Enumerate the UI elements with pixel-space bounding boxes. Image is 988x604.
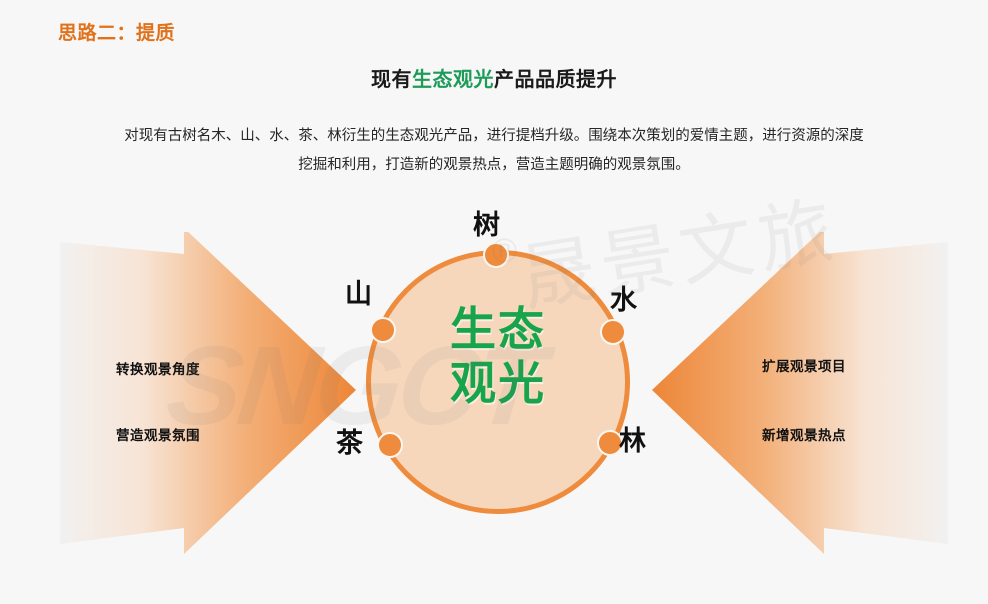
node-dot-shan[interactable]	[370, 317, 396, 343]
right-arrow-label-2: 新增观景热点	[762, 424, 846, 444]
center-label-line-1: 生态	[366, 302, 630, 356]
center-circle-label: 生态 观光	[366, 302, 630, 410]
center-circle: 生态 观光	[366, 250, 630, 514]
left-arrow-label-1: 转换观景角度	[116, 358, 200, 378]
node-dot-shu[interactable]	[483, 242, 509, 268]
right-arrow-label-1: 扩展观景项目	[762, 355, 846, 375]
slide-canvas: 思路二：提质 现有生态观光产品品质提升 对现有古树名木、山、水、茶、林衍生的生态…	[0, 0, 988, 604]
node-dot-shui[interactable]	[600, 319, 626, 345]
node-label-shui: 水	[610, 287, 637, 314]
node-dot-cha[interactable]	[377, 432, 403, 458]
node-label-shu: 树	[473, 212, 500, 239]
left-arrow-label-2: 营造观景氛围	[116, 424, 200, 444]
circle-diagram: 生态 观光 树 山 水 茶 林	[0, 0, 988, 604]
center-label-line-2: 观光	[366, 356, 630, 410]
node-label-shan: 山	[345, 281, 372, 308]
node-label-cha: 茶	[336, 430, 363, 457]
node-label-lin: 林	[619, 428, 646, 455]
